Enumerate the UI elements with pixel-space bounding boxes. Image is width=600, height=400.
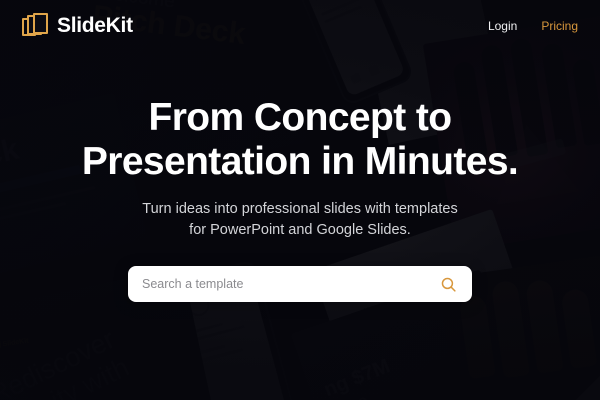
brand-logo[interactable]: SlideKit [22,13,133,39]
brand-name: SlideKit [57,14,133,38]
landing-page: SlideKit Welcome Pitch Deck Deck [0,0,600,400]
search-bar[interactable] [128,266,472,302]
stacked-slides-icon [22,13,48,39]
search-icon [440,276,457,293]
hero-section: From Concept to Presentation in Minutes.… [0,96,600,241]
nav-links: Login Pricing [488,19,578,33]
hero-subtitle: Turn ideas into professional slides with… [0,199,600,241]
search-input[interactable] [142,277,436,291]
subtitle-line-1: Turn ideas into professional slides with… [142,201,457,217]
page-content: SlideKit Login Pricing From Concept to P… [0,0,600,400]
page-title: From Concept to Presentation in Minutes. [0,96,600,183]
subtitle-line-2: for PowerPoint and Google Slides. [189,222,411,238]
search-button[interactable] [436,272,460,296]
nav-link-login[interactable]: Login [488,19,517,33]
search-section [128,266,472,302]
top-navbar: SlideKit Login Pricing [0,0,600,52]
nav-link-pricing[interactable]: Pricing [541,19,578,33]
headline-line-1: From Concept to [149,96,452,139]
headline-line-2: Presentation in Minutes. [82,140,518,183]
